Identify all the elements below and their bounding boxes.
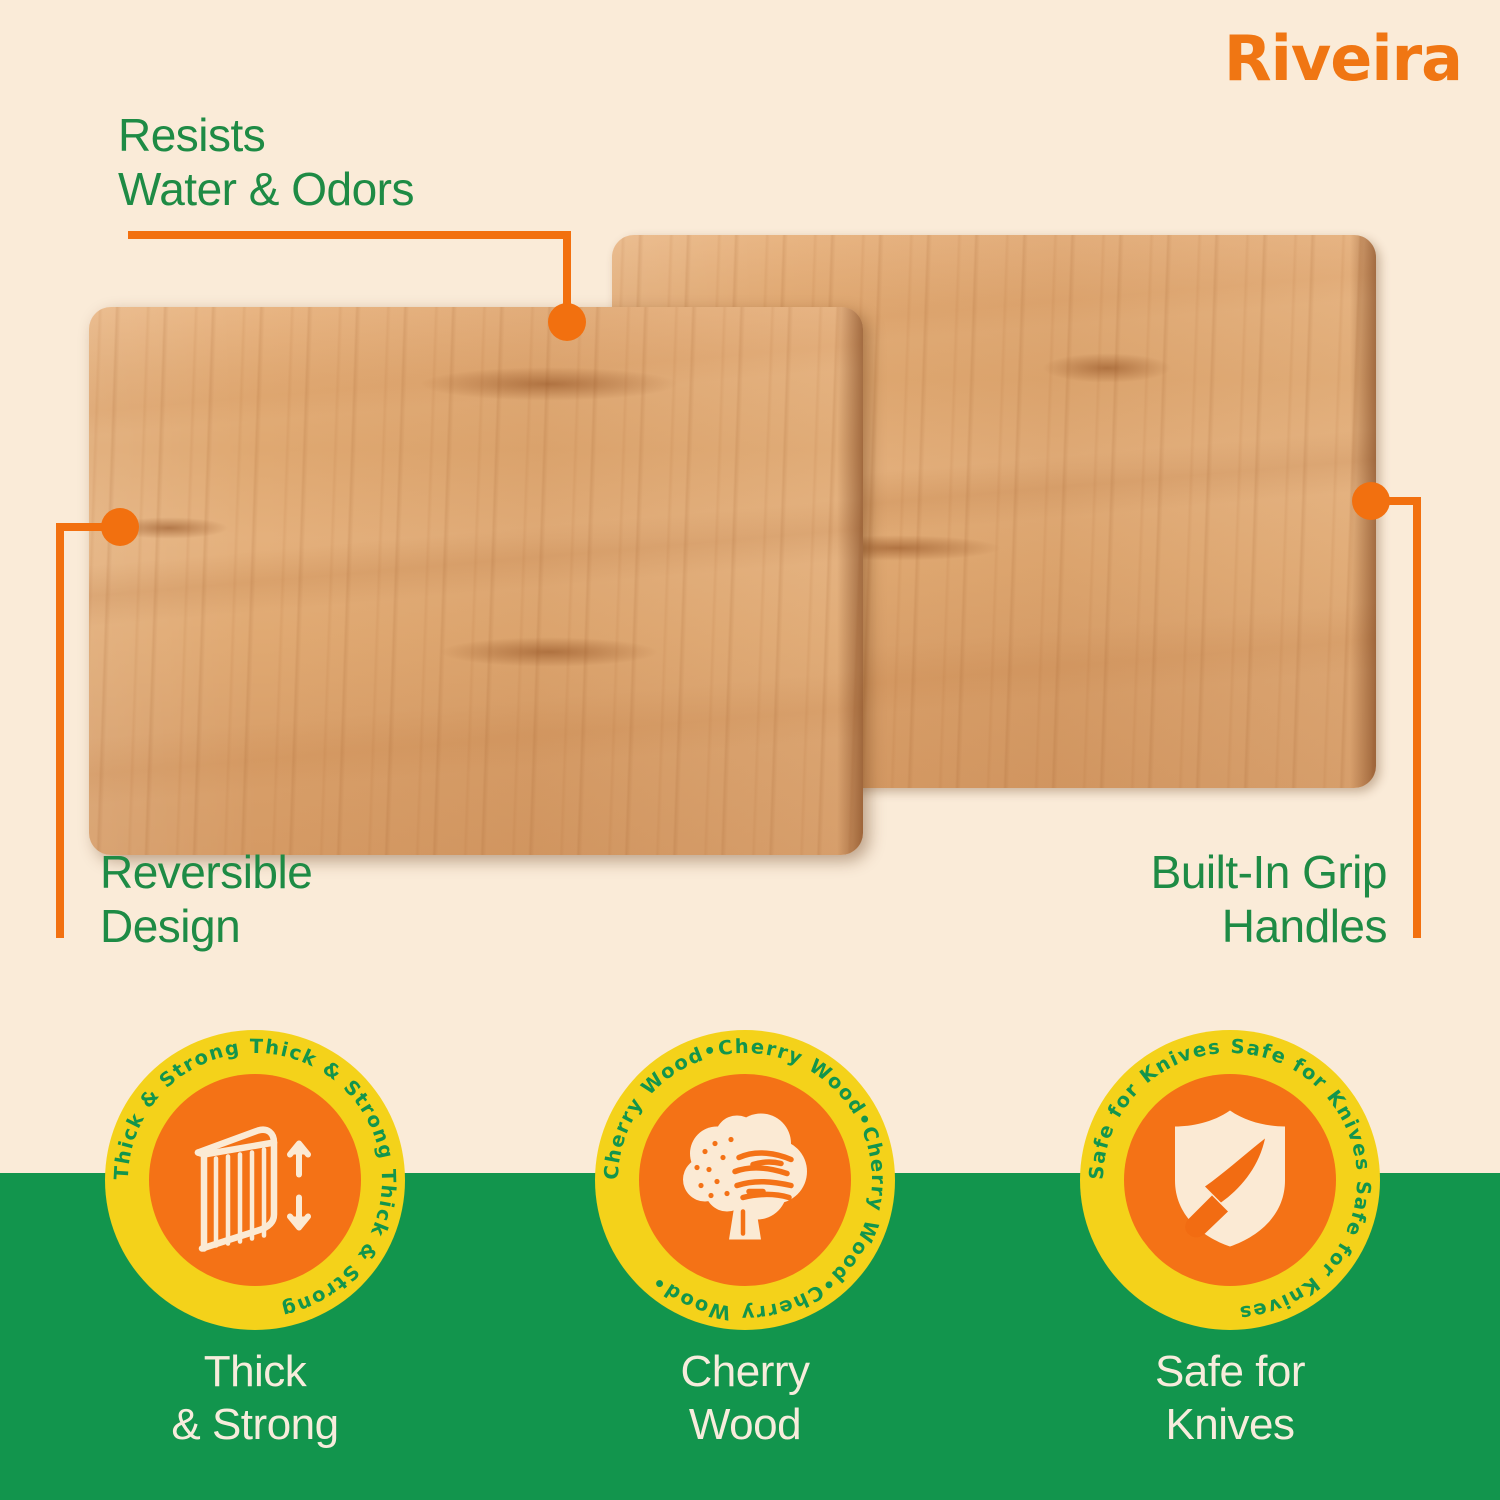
badge-thick-and-strong: Thick & Strong Thick & Strong Thick & St… — [105, 1030, 405, 1330]
brand-logo: Riveira — [1224, 28, 1462, 90]
badge-caption-cherry-wood: Cherry Wood — [595, 1346, 895, 1452]
board-thickness-icon — [180, 1103, 330, 1258]
badge-medallion: Safe for Knives Safe for Knives Safe for… — [1080, 1030, 1380, 1330]
board-edge-shadow — [837, 307, 863, 855]
badge-caption-safe-for-knives: Safe for Knives — [1080, 1346, 1380, 1452]
callout-line-vertical-left — [56, 523, 64, 938]
callout-dot-resists-water-odors — [548, 303, 586, 341]
wood-knot — [439, 637, 659, 667]
callout-label-resists-water-odors: Resists Water & Odors — [118, 108, 414, 217]
badge-safe-for-knives: Safe for Knives Safe for Knives Safe for… — [1080, 1030, 1380, 1330]
callout-line-vertical-right — [1413, 497, 1421, 938]
callout-dot-built-in-grip-handles — [1352, 482, 1390, 520]
callout-label-reversible-design: Reversible Design — [100, 845, 312, 954]
wood-knot — [419, 367, 679, 401]
badge-cherry-wood: Cherry Wood•Cherry Wood•Cherry Wood•Cher… — [595, 1030, 895, 1330]
callout-line-horizontal-top — [128, 231, 571, 239]
wood-knot — [1042, 353, 1172, 383]
badge-caption-thick-and-strong: Thick & Strong — [105, 1346, 405, 1452]
front-cutting-board — [89, 307, 863, 855]
product-infographic: Riveira Resists Water & Odors Reversible… — [0, 0, 1500, 1500]
callout-dot-reversible-design — [101, 508, 139, 546]
feature-badge-row: Thick & Strong Thick & Strong Thick & St… — [0, 1030, 1500, 1330]
badge-medallion: Thick & Strong Thick & Strong Thick & St… — [105, 1030, 405, 1330]
callout-label-built-in-grip-handles: Built-In Grip Handles — [1151, 845, 1387, 954]
badge-medallion: Cherry Wood•Cherry Wood•Cherry Wood•Cher… — [595, 1030, 895, 1330]
tree-icon — [665, 1098, 825, 1263]
shield-knife-icon — [1155, 1103, 1305, 1258]
